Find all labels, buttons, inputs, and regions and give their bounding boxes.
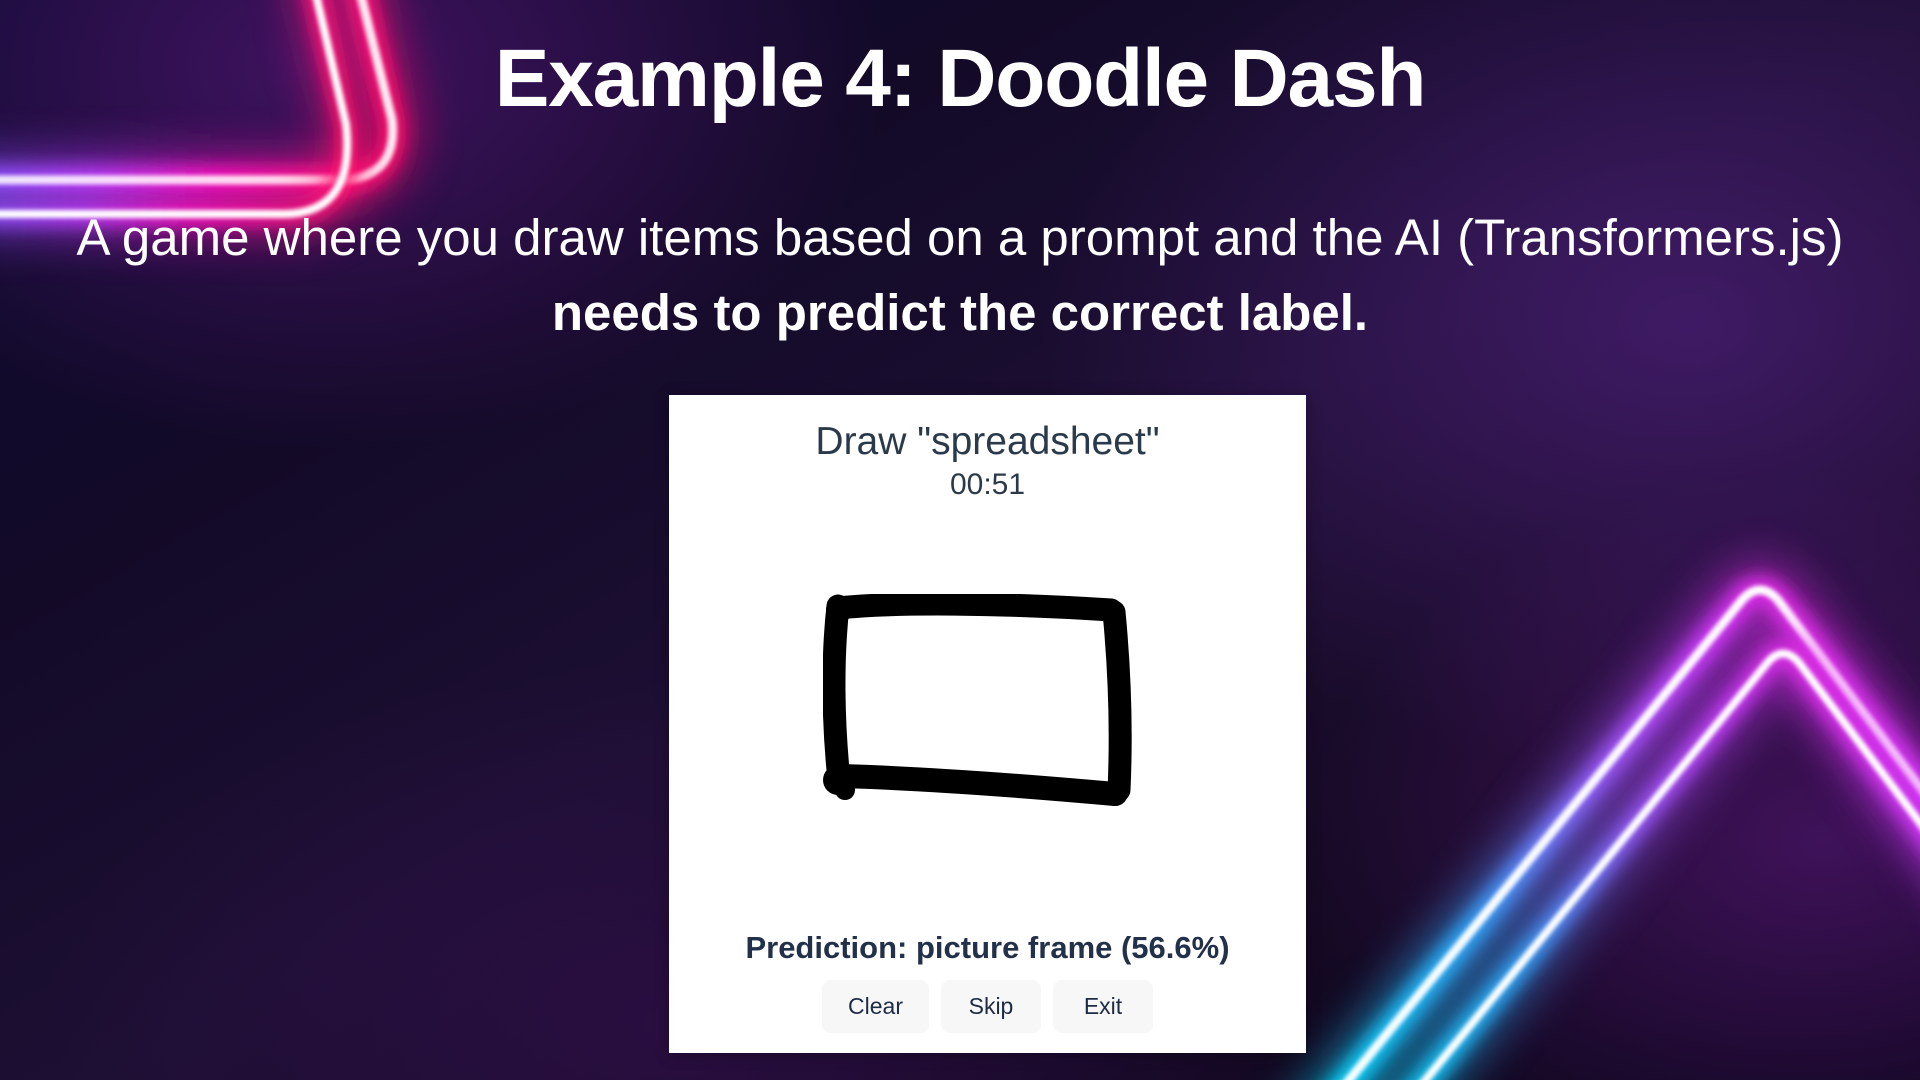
prediction-label: Prediction: picture frame (56.6%) <box>745 930 1229 966</box>
draw-prompt-label: Draw "spreadsheet" <box>815 420 1159 464</box>
skip-button[interactable]: Skip <box>941 980 1041 1033</box>
neon-chevron-bottom-right <box>1300 590 1920 1080</box>
countdown-timer: 00:51 <box>950 468 1025 502</box>
clear-button[interactable]: Clear <box>822 980 929 1033</box>
slide-root: Example 4: Doodle Dash A game where you … <box>0 0 1920 1080</box>
page-title: Example 4: Doodle Dash <box>0 38 1920 120</box>
hand-drawn-rectangle-doodle <box>823 594 1153 824</box>
drawing-canvas[interactable] <box>669 502 1306 930</box>
doodle-dash-game-card: Draw "spreadsheet" 00:51 Prediction: pic… <box>669 395 1306 1053</box>
subtitle-plain-text: A game where you draw items based on a p… <box>77 209 1844 266</box>
page-subtitle: A game where you draw items based on a p… <box>40 200 1880 351</box>
exit-button[interactable]: Exit <box>1053 980 1153 1033</box>
subtitle-bold-text: needs to predict the correct label. <box>552 284 1368 341</box>
card-action-buttons: Clear Skip Exit <box>822 980 1153 1033</box>
